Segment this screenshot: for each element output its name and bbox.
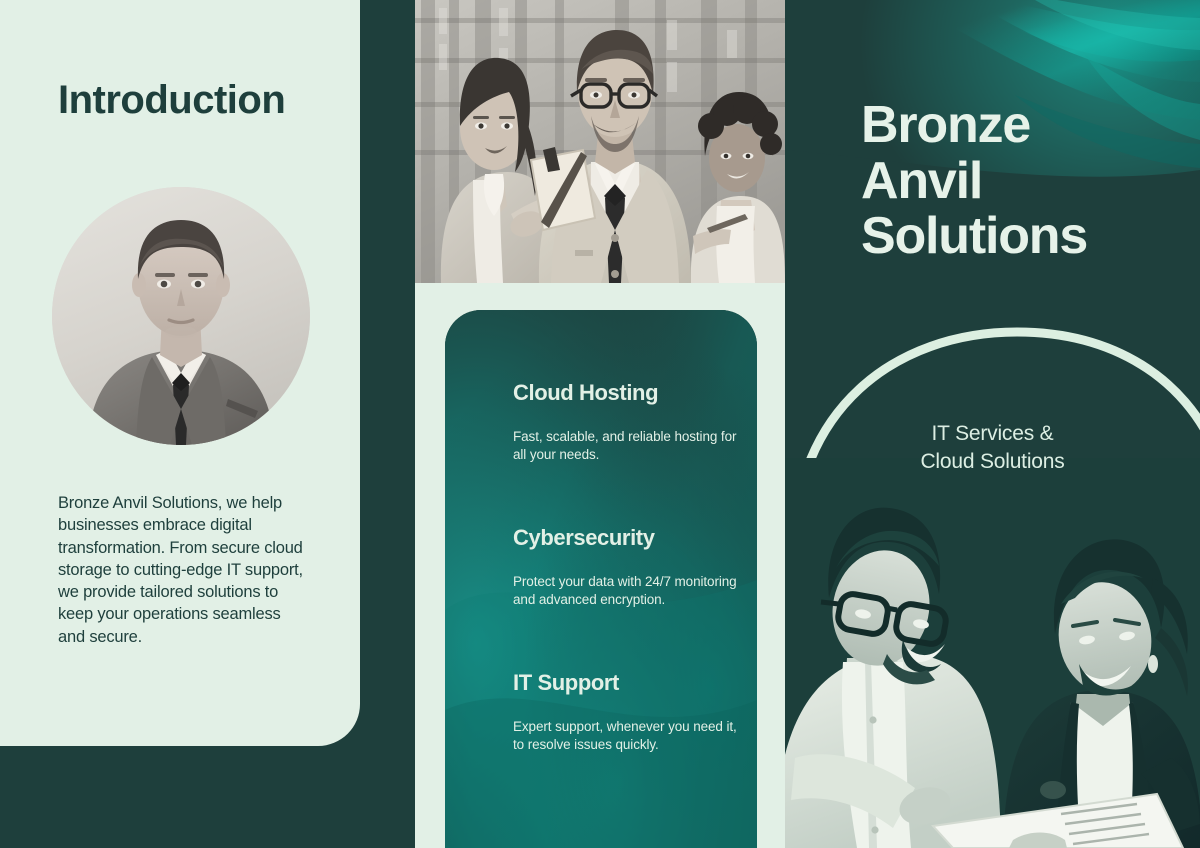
service-description: Fast, scalable, and reliable hosting for… bbox=[513, 428, 749, 464]
service-item-cybersecurity: Cybersecurity Protect your data with 24/… bbox=[513, 525, 749, 609]
team-photo bbox=[415, 0, 785, 283]
tagline: IT Services & Cloud Solutions bbox=[785, 420, 1200, 476]
services-card: Cloud Hosting Fast, scalable, and reliab… bbox=[445, 310, 757, 848]
brochure-page: Introduction bbox=[0, 0, 1200, 848]
brand-title-line-1: Bronze bbox=[861, 98, 1087, 154]
brand-title-line-2: Anvil bbox=[861, 154, 1087, 210]
left-panel: Introduction bbox=[0, 0, 360, 746]
brand-title-line-3: Solutions bbox=[861, 209, 1087, 265]
service-title: Cloud Hosting bbox=[513, 380, 749, 406]
tagline-line-2: Cloud Solutions bbox=[785, 448, 1200, 476]
portrait-photo bbox=[52, 187, 310, 445]
tagline-line-1: IT Services & bbox=[785, 420, 1200, 448]
intro-paragraph: Bronze Anvil Solutions, we help business… bbox=[58, 492, 310, 648]
service-title: Cybersecurity bbox=[513, 525, 749, 551]
page-title: Introduction bbox=[58, 78, 285, 123]
service-item-it-support: IT Support Expert support, whenever you … bbox=[513, 670, 749, 754]
avatar bbox=[52, 187, 310, 445]
brand-title: Bronze Anvil Solutions bbox=[861, 98, 1087, 265]
service-description: Expert support, whenever you need it, to… bbox=[513, 718, 749, 754]
service-title: IT Support bbox=[513, 670, 749, 696]
service-description: Protect your data with 24/7 monitoring a… bbox=[513, 573, 749, 609]
collaboration-photo-image bbox=[785, 458, 1200, 848]
service-item-cloud-hosting: Cloud Hosting Fast, scalable, and reliab… bbox=[513, 380, 749, 464]
collaboration-photo bbox=[785, 458, 1200, 848]
right-panel: Bronze Anvil Solutions IT Services & Clo… bbox=[785, 0, 1200, 848]
team-photo-image bbox=[415, 0, 785, 283]
